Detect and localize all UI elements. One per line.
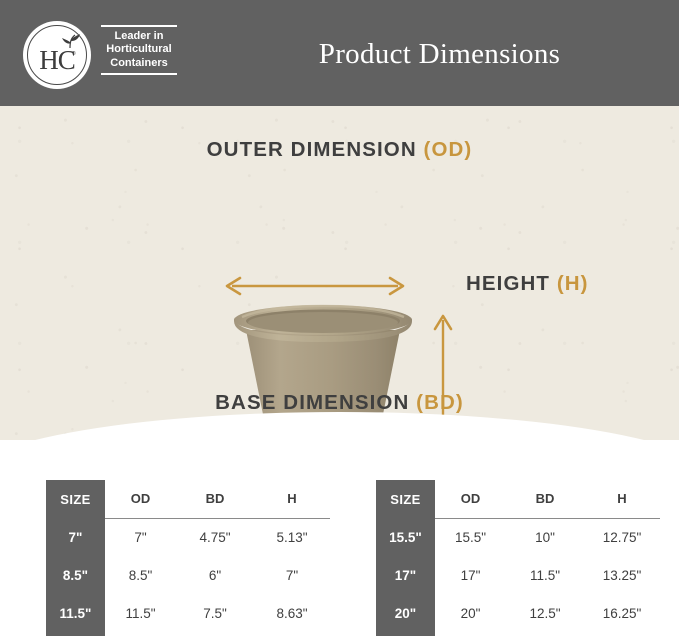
page-title: Product Dimensions <box>200 38 679 71</box>
cell-size: 7" <box>46 518 105 556</box>
cell-h: 5.13" <box>254 518 330 556</box>
cell-od: 17" <box>435 556 506 594</box>
column-header-h: H <box>254 480 330 518</box>
od-label-code: (OD) <box>424 138 473 161</box>
logo-trademark: ® <box>72 51 76 57</box>
cell-od: 11.5" <box>105 594 176 632</box>
header-bar: HC ® Leader in Horticultural Containers … <box>0 0 679 106</box>
cell-od: 20" <box>435 594 506 632</box>
column-header-bd: BD <box>506 480 584 518</box>
cell-size: 17" <box>376 556 435 594</box>
column-header-h: H <box>584 480 660 518</box>
height-label: HEIGHT (H) <box>466 272 589 296</box>
table-row: 15.5" 15.5" 10" 12.75" <box>376 518 660 556</box>
tagline-line-1: Leader in <box>99 30 179 44</box>
table-row: 20" 20" 12.5" 16.25" <box>376 594 660 632</box>
cell-bd: 11.5" <box>506 556 584 594</box>
cell-bd: 6" <box>176 556 254 594</box>
cell-bd: 4.75" <box>176 518 254 556</box>
logo-monogram: HC <box>23 47 91 74</box>
hc-logo: HC ® <box>23 21 91 89</box>
cell-h: 16.25" <box>584 594 660 632</box>
table-row: 7" 7" 4.75" 5.13" <box>46 518 330 556</box>
base-dimension-label: BASE DIMENSION (BD) <box>0 391 679 415</box>
column-header-size: SIZE <box>376 480 435 518</box>
cell-h: 8.63" <box>254 594 330 632</box>
column-header-od: OD <box>105 480 176 518</box>
tagline-line-3: Containers <box>99 57 179 71</box>
table-header-row: SIZE OD BD H <box>46 480 330 518</box>
h-label-code: (H) <box>557 272 589 295</box>
cell-bd: 10" <box>506 518 584 556</box>
cell-size: 20" <box>376 594 435 632</box>
cell-h: 19.25" <box>584 632 660 636</box>
outer-dimension-label: OUTER DIMENSION (OD) <box>0 138 679 162</box>
column-header-bd: BD <box>176 480 254 518</box>
dimensions-table-right: SIZE OD BD H 15.5" 15.5" 10" 12.75" 17" … <box>376 480 660 636</box>
cell-size: 8.5" <box>46 556 105 594</box>
table-row: 14" 14" 9" 11" <box>46 632 330 636</box>
table-row: 24" 24" 15.5" 19.25" <box>376 632 660 636</box>
table-row: 11.5" 11.5" 7.5" 8.63" <box>46 594 330 632</box>
cell-od: 8.5" <box>105 556 176 594</box>
outer-dimension-arrow-icon <box>220 274 410 298</box>
table-header-row: SIZE OD BD H <box>376 480 660 518</box>
column-header-od: OD <box>435 480 506 518</box>
cell-bd: 7.5" <box>176 594 254 632</box>
cell-od: 15.5" <box>435 518 506 556</box>
cell-od: 14" <box>105 632 176 636</box>
table-row: 8.5" 8.5" 6" 7" <box>46 556 330 594</box>
panel-white-fill <box>0 440 679 448</box>
tagline-line-2: Horticultural <box>99 43 179 57</box>
tagline-rule-bottom <box>101 73 177 75</box>
h-label-text: HEIGHT <box>466 272 550 295</box>
cell-od: 24" <box>435 632 506 636</box>
cell-size: 11.5" <box>46 594 105 632</box>
cell-size: 24" <box>376 632 435 636</box>
cell-size: 14" <box>46 632 105 636</box>
cell-bd: 15.5" <box>506 632 584 636</box>
cell-od: 7" <box>105 518 176 556</box>
cell-size: 15.5" <box>376 518 435 556</box>
column-header-size: SIZE <box>46 480 105 518</box>
od-label-text: OUTER DIMENSION <box>207 138 417 161</box>
cell-bd: 12.5" <box>506 594 584 632</box>
cell-h: 7" <box>254 556 330 594</box>
table-row: 17" 17" 11.5" 13.25" <box>376 556 660 594</box>
cell-bd: 9" <box>176 632 254 636</box>
cell-h: 11" <box>254 632 330 636</box>
tagline-block: Leader in Horticultural Containers <box>99 25 179 75</box>
dimensions-table-left: SIZE OD BD H 7" 7" 4.75" 5.13" 8.5" 8.5"… <box>46 480 330 636</box>
cell-h: 12.75" <box>584 518 660 556</box>
product-dimensions-infographic: HC ® Leader in Horticultural Containers … <box>0 0 679 636</box>
bd-label-text: BASE DIMENSION <box>215 391 409 414</box>
cell-h: 13.25" <box>584 556 660 594</box>
bd-label-code: (BD) <box>416 391 464 414</box>
